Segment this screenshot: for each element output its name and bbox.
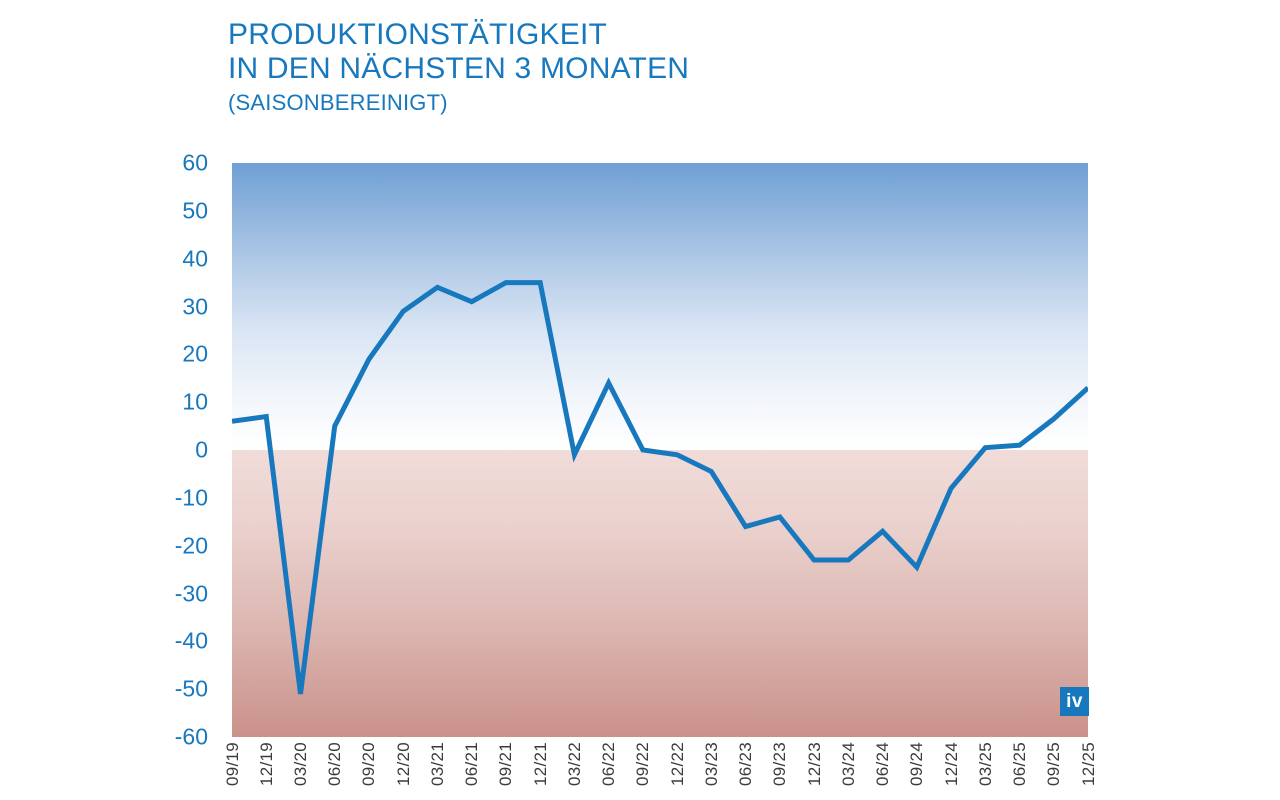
x-axis-tick: 09/21 [497,742,514,786]
x-axis-tick: 09/24 [908,742,925,786]
series-line-svg [232,163,1088,737]
y-axis-tick: -30 [175,582,208,605]
y-axis-tick: 60 [182,152,208,175]
x-axis-tick: 12/24 [943,742,960,786]
plot-area [232,163,1088,737]
x-axis-tick: 03/22 [566,742,583,786]
y-axis-tick: -10 [175,486,208,509]
x-axis-tick: 03/25 [977,742,994,786]
x-axis-tick: 06/20 [326,742,343,786]
x-axis-tick: 03/20 [292,742,309,786]
x-axis-tick: 09/23 [771,742,788,786]
x-axis-tick: 12/20 [395,742,412,786]
x-axis-tick: 12/23 [806,742,823,786]
x-axis-tick: 06/24 [874,742,891,786]
x-axis-tick: 09/20 [360,742,377,786]
iv-logo: iv [1060,687,1089,716]
x-axis-tick: 09/19 [224,742,241,786]
chart-page: PRODUKTIONSTÄTIGKEIT IN DEN NÄCHSTEN 3 M… [0,0,1280,800]
y-axis-tick: 30 [182,295,208,318]
x-axis-tick: 12/21 [532,742,549,786]
x-axis-tick: 06/23 [737,742,754,786]
x-axis-tick: 06/21 [463,742,480,786]
x-axis-tick: 09/25 [1045,742,1062,786]
y-axis-tick: -20 [175,534,208,557]
series-line [232,283,1088,694]
y-axis: 6050403020100-10-20-30-40-50-60 [150,163,220,737]
x-axis-tick: 12/22 [669,742,686,786]
chart: 6050403020100-10-20-30-40-50-60 09/1912/… [0,0,1280,800]
y-axis-tick: 0 [195,439,208,462]
y-axis-tick: -50 [175,678,208,701]
x-axis-tick: 03/23 [703,742,720,786]
x-axis-tick: 06/22 [600,742,617,786]
y-axis-tick: 50 [182,199,208,222]
y-axis-tick: 20 [182,343,208,366]
x-axis-tick: 03/21 [429,742,446,786]
x-axis-tick: 03/24 [840,742,857,786]
x-axis-tick: 12/25 [1080,742,1097,786]
y-axis-tick: 10 [182,391,208,414]
y-axis-tick: 40 [182,247,208,270]
y-axis-tick: -40 [175,630,208,653]
x-axis-tick: 12/19 [258,742,275,786]
x-axis: 09/1912/1903/2006/2009/2012/2003/2106/21… [232,742,1088,800]
x-axis-tick: 06/25 [1011,742,1028,786]
y-axis-tick: -60 [175,726,208,749]
x-axis-tick: 09/22 [634,742,651,786]
